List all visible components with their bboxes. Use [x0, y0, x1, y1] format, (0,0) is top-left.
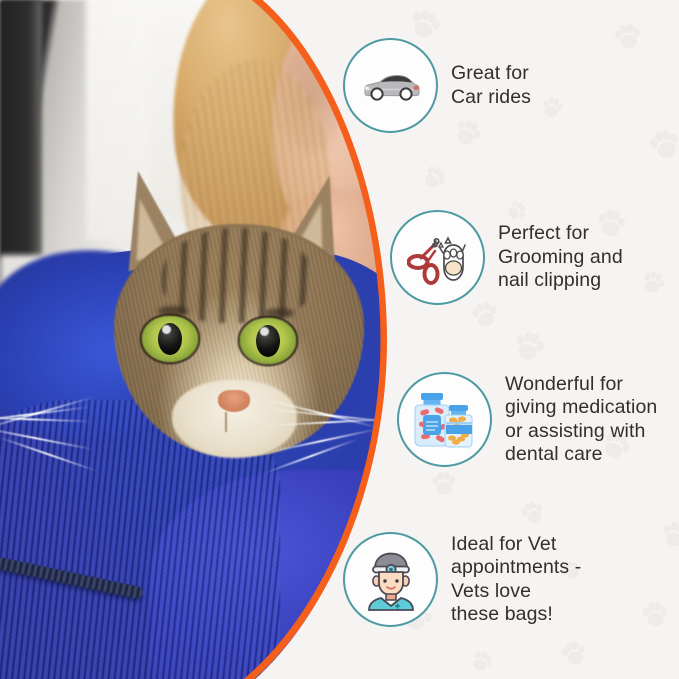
feature-item-grooming[interactable]: Perfect for Grooming and nail clipping	[390, 210, 623, 305]
photo-canvas	[0, 0, 400, 679]
tabby-cat	[92, 168, 392, 498]
cat-brow-right	[264, 308, 294, 318]
cat-brow-left	[158, 306, 188, 316]
product-feature-poster: Great for Car rides P	[0, 0, 679, 679]
feature-label: Great for Car rides	[451, 62, 531, 109]
nail-clippers-paw-icon	[407, 229, 469, 287]
cat-whiskers	[32, 368, 400, 498]
feature-label: Perfect for Grooming and nail clipping	[498, 222, 623, 293]
paw-print-icon	[639, 599, 672, 632]
medicine-bottles-icon	[413, 389, 477, 451]
feature-item-medication[interactable]: Wonderful for giving medication or assis…	[397, 372, 657, 467]
feature-label: Ideal for Vet appointments - Vets love t…	[451, 533, 581, 627]
cat-eye-glint-left	[162, 325, 171, 334]
feature-icon-badge	[390, 210, 485, 305]
clinic-cabinet-edge	[0, 0, 42, 260]
feature-item-car-rides[interactable]: Great for Car rides	[343, 38, 531, 133]
paw-print-icon	[538, 94, 566, 122]
veterinarian-icon	[359, 548, 423, 612]
product-photo	[0, 0, 400, 679]
cat-eye-glint-right	[260, 327, 269, 336]
paw-print-icon	[428, 468, 460, 500]
feature-icon-badge	[343, 38, 438, 133]
paw-print-icon	[610, 19, 646, 55]
feature-icon-badge	[397, 372, 492, 467]
car-icon	[360, 69, 422, 103]
feature-item-vet[interactable]: Ideal for Vet appointments - Vets love t…	[343, 532, 581, 627]
feature-icon-badge	[343, 532, 438, 627]
feature-label: Wonderful for giving medication or assis…	[505, 373, 657, 467]
